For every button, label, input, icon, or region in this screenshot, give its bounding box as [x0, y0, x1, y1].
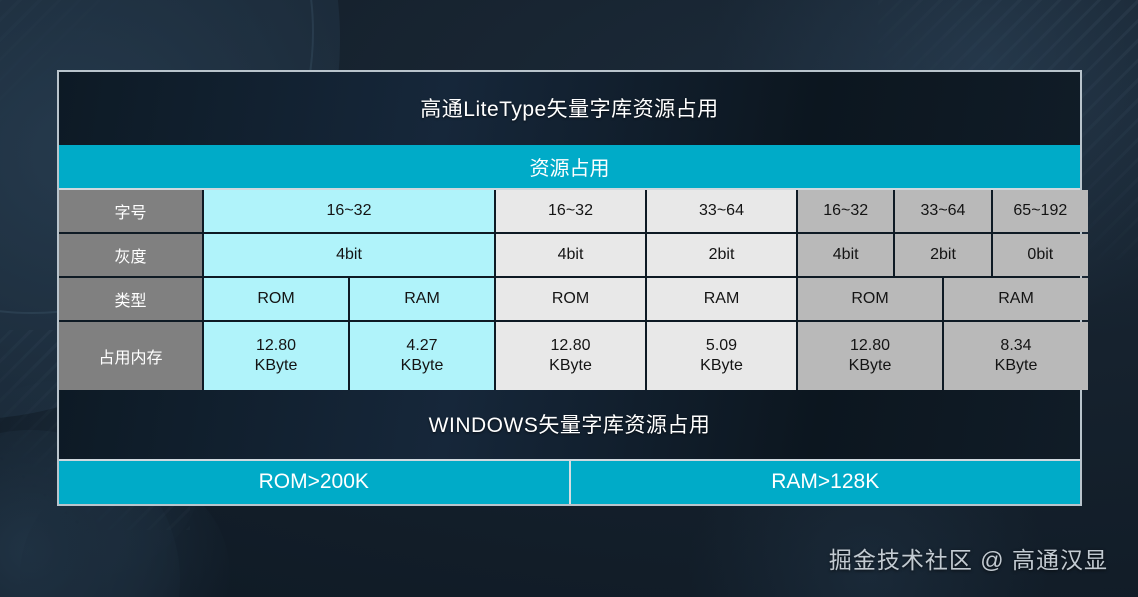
group-light-row-font-size: 16~32 33~64	[496, 190, 796, 232]
memory-value: 8.34	[1000, 337, 1031, 354]
memory-value: 12.80	[550, 337, 590, 354]
section-header-resource-usage: 资源占用	[59, 145, 1080, 190]
table-cell-memory: 12.80KByte	[798, 322, 942, 390]
table-cell: ROM	[496, 278, 645, 320]
memory-unit: KByte	[700, 356, 743, 376]
group-dark-row-memory: 12.80KByte 8.34KByte	[798, 322, 1088, 390]
group-highlight-row-font-size: 16~32	[204, 190, 494, 232]
group-light-row-type: ROM RAM	[496, 278, 796, 320]
windows-footer-row: ROM>200K RAM>128K	[59, 459, 1080, 504]
table-cell-memory: 4.27KByte	[350, 322, 494, 390]
memory-unit: KByte	[401, 356, 444, 376]
table-cell: 33~64	[895, 190, 990, 232]
footer-rom-value: ROM>200K	[59, 461, 569, 504]
table-cell: RAM	[647, 278, 796, 320]
memory-unit: KByte	[549, 356, 592, 376]
table-cell: RAM	[944, 278, 1088, 320]
memory-value: 4.27	[406, 337, 437, 354]
footer-ram-value: RAM>128K	[569, 461, 1081, 504]
memory-value: 12.80	[850, 337, 890, 354]
table-cell: 16~32	[496, 190, 645, 232]
table-cell: 4bit	[496, 234, 645, 276]
resource-usage-table: 字号 16~32 16~32 33~64 16~32 33~64 65~192 …	[59, 190, 1080, 390]
table-cell: 4bit	[798, 234, 893, 276]
table-cell: 0bit	[993, 234, 1088, 276]
card-title-litetype: 高通LiteType矢量字库资源占用	[59, 72, 1080, 145]
table-cell-memory: 8.34KByte	[944, 322, 1088, 390]
group-dark-row-font-size: 16~32 33~64 65~192	[798, 190, 1088, 232]
table-cell-memory: 12.80KByte	[204, 322, 348, 390]
table-cell: 2bit	[647, 234, 796, 276]
watermark: 掘金技术社区 @ 高通汉显	[829, 541, 1108, 575]
table-cell: 4bit	[204, 234, 494, 276]
group-highlight-row-grayscale: 4bit	[204, 234, 494, 276]
row-label-memory-usage: 占用内存	[59, 322, 202, 390]
group-highlight-row-type: ROM RAM	[204, 278, 494, 320]
table-cell: 2bit	[895, 234, 990, 276]
row-label-grayscale: 灰度	[59, 234, 202, 276]
memory-value: 12.80	[256, 337, 296, 354]
row-label-type: 类型	[59, 278, 202, 320]
resource-usage-card: 高通LiteType矢量字库资源占用 资源占用 字号 16~32 16~32 3…	[57, 70, 1082, 506]
table-cell-memory: 12.80KByte	[496, 322, 645, 390]
group-highlight-row-memory: 12.80KByte 4.27KByte	[204, 322, 494, 390]
memory-value: 5.09	[706, 337, 737, 354]
table-cell: 65~192	[993, 190, 1088, 232]
table-cell: ROM	[204, 278, 348, 320]
card-title-windows: WINDOWS矢量字库资源占用	[59, 390, 1080, 459]
memory-unit: KByte	[995, 356, 1038, 376]
group-light-row-grayscale: 4bit 2bit	[496, 234, 796, 276]
memory-unit: KByte	[849, 356, 892, 376]
row-label-font-size: 字号	[59, 190, 202, 232]
table-cell-memory: 5.09KByte	[647, 322, 796, 390]
group-dark-row-grayscale: 4bit 2bit 0bit	[798, 234, 1088, 276]
table-cell: 33~64	[647, 190, 796, 232]
group-light-row-memory: 12.80KByte 5.09KByte	[496, 322, 796, 390]
table-cell: ROM	[798, 278, 942, 320]
table-cell: 16~32	[798, 190, 893, 232]
table-cell: 16~32	[204, 190, 494, 232]
table-cell: RAM	[350, 278, 494, 320]
memory-unit: KByte	[255, 356, 298, 376]
group-dark-row-type: ROM RAM	[798, 278, 1088, 320]
